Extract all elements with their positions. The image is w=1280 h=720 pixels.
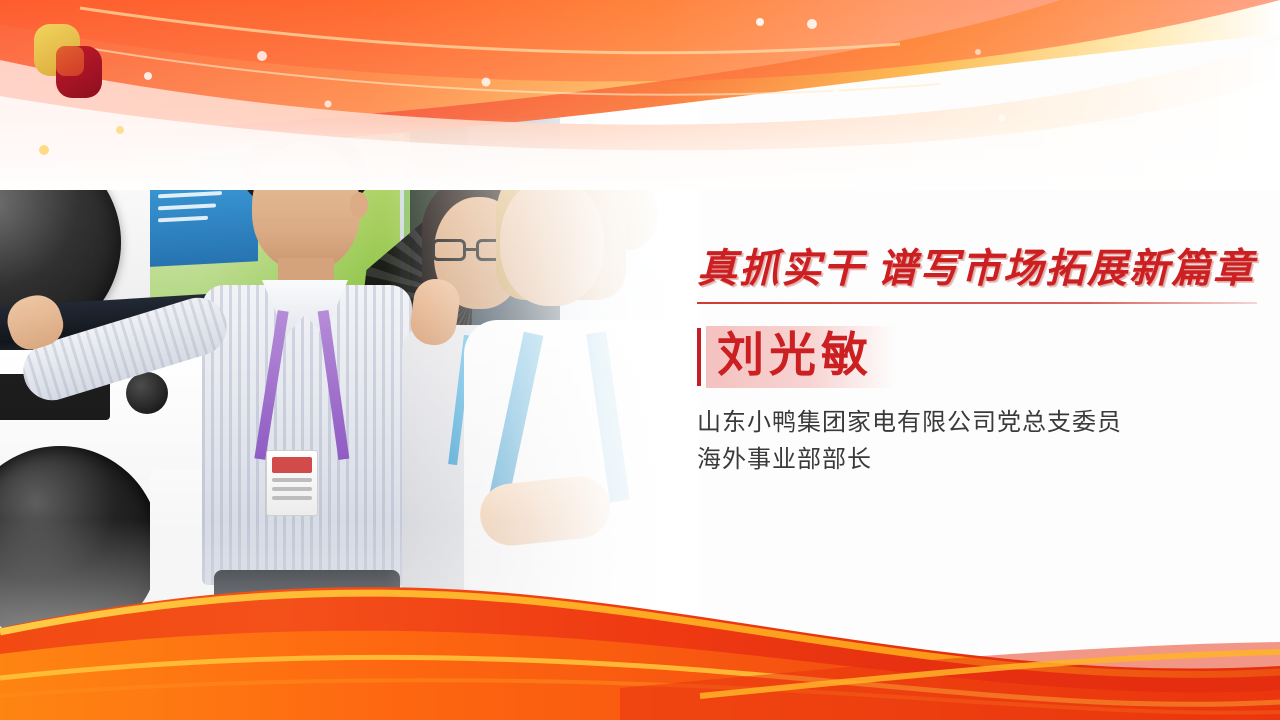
- event-photo: [0, 0, 700, 700]
- bokeh-dot: [975, 49, 981, 55]
- bokeh-dot: [807, 19, 817, 29]
- speaker-name: 刘光敏: [717, 324, 873, 388]
- speaker-title-line-2: 海外事业部部长: [697, 441, 1259, 478]
- slide-canvas: 真抓实干 谱写市场拓展新篇章 刘光敏 山东小鸭集团家电有限公司党总支委员 海外事…: [0, 0, 1280, 720]
- bokeh-dot: [833, 89, 839, 95]
- speaker-name-row: 刘光敏: [697, 326, 1259, 388]
- speaker-title: 山东小鸭集团家电有限公司党总支委员 海外事业部部长: [697, 404, 1259, 478]
- speaker-title-line-1: 山东小鸭集团家电有限公司党总支委员: [697, 404, 1259, 441]
- photo-right-fade: [0, 0, 700, 700]
- brand-logo[interactable]: [34, 24, 106, 96]
- bokeh-dot: [756, 18, 764, 26]
- logo-inner-cutout: [56, 46, 84, 76]
- headline-divider: [697, 302, 1257, 304]
- photo-image: [0, 0, 700, 700]
- headline-title: 真抓实干 谱写市场拓展新篇章: [697, 244, 1259, 294]
- name-accent-bar: [697, 328, 701, 386]
- speaker-info-panel: 真抓实干 谱写市场拓展新篇章 刘光敏 山东小鸭集团家电有限公司党总支委员 海外事…: [697, 244, 1259, 478]
- bokeh-dot: [999, 115, 1006, 122]
